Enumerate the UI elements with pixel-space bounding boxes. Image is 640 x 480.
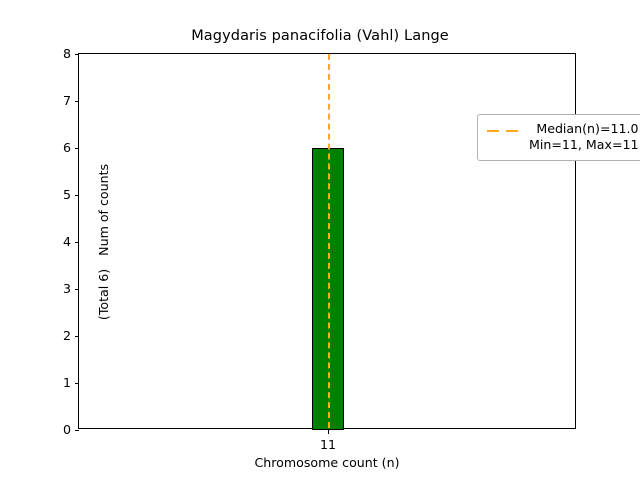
chart-title: Magydaris panacifolia (Vahl) Lange bbox=[0, 28, 640, 44]
x-axis-label: Chromosome count (n) bbox=[78, 455, 576, 470]
y-tick-mark bbox=[75, 336, 79, 337]
chart-legend: Median(n)=11.0 Min=11, Max=11 bbox=[477, 114, 640, 161]
y-tick-mark bbox=[75, 430, 79, 431]
x-tick-mark bbox=[328, 430, 329, 434]
median-line bbox=[328, 54, 330, 428]
y-tick-mark bbox=[75, 148, 79, 149]
y-tick-label: 5 bbox=[45, 188, 71, 202]
x-tick-label: 11 bbox=[298, 437, 358, 452]
y-tick-mark bbox=[75, 54, 79, 55]
y-tick-label: 8 bbox=[45, 47, 71, 61]
y-tick-label: 2 bbox=[45, 329, 71, 343]
y-tick-mark bbox=[75, 383, 79, 384]
y-axis-label: Num of counts (Total 6) bbox=[80, 77, 126, 407]
y-tick-label: 7 bbox=[45, 94, 71, 108]
legend-entry-median: Median(n)=11.0 bbox=[529, 121, 639, 137]
legend-text: Median(n)=11.0 Min=11, Max=11 bbox=[529, 121, 639, 153]
y-tick-label: 6 bbox=[45, 141, 71, 155]
y-tick-label: 1 bbox=[45, 376, 71, 390]
plot-area: Num of counts (Total 6) 012345678 11 Med… bbox=[78, 53, 576, 429]
y-axis-label-line2: (Total 6) bbox=[96, 269, 111, 320]
legend-entry-minmax: Min=11, Max=11 bbox=[529, 137, 639, 153]
y-axis-label-line1: Num of counts bbox=[96, 164, 111, 256]
median-line-swatch-icon bbox=[487, 124, 520, 138]
y-tick-label: 3 bbox=[45, 282, 71, 296]
y-tick-mark bbox=[75, 101, 79, 102]
y-tick-mark bbox=[75, 289, 79, 290]
y-tick-label: 0 bbox=[45, 423, 71, 437]
y-tick-label: 4 bbox=[45, 235, 71, 249]
y-tick-mark bbox=[75, 195, 79, 196]
chart-figure: Magydaris panacifolia (Vahl) Lange Num o… bbox=[0, 0, 640, 480]
y-tick-mark bbox=[75, 242, 79, 243]
